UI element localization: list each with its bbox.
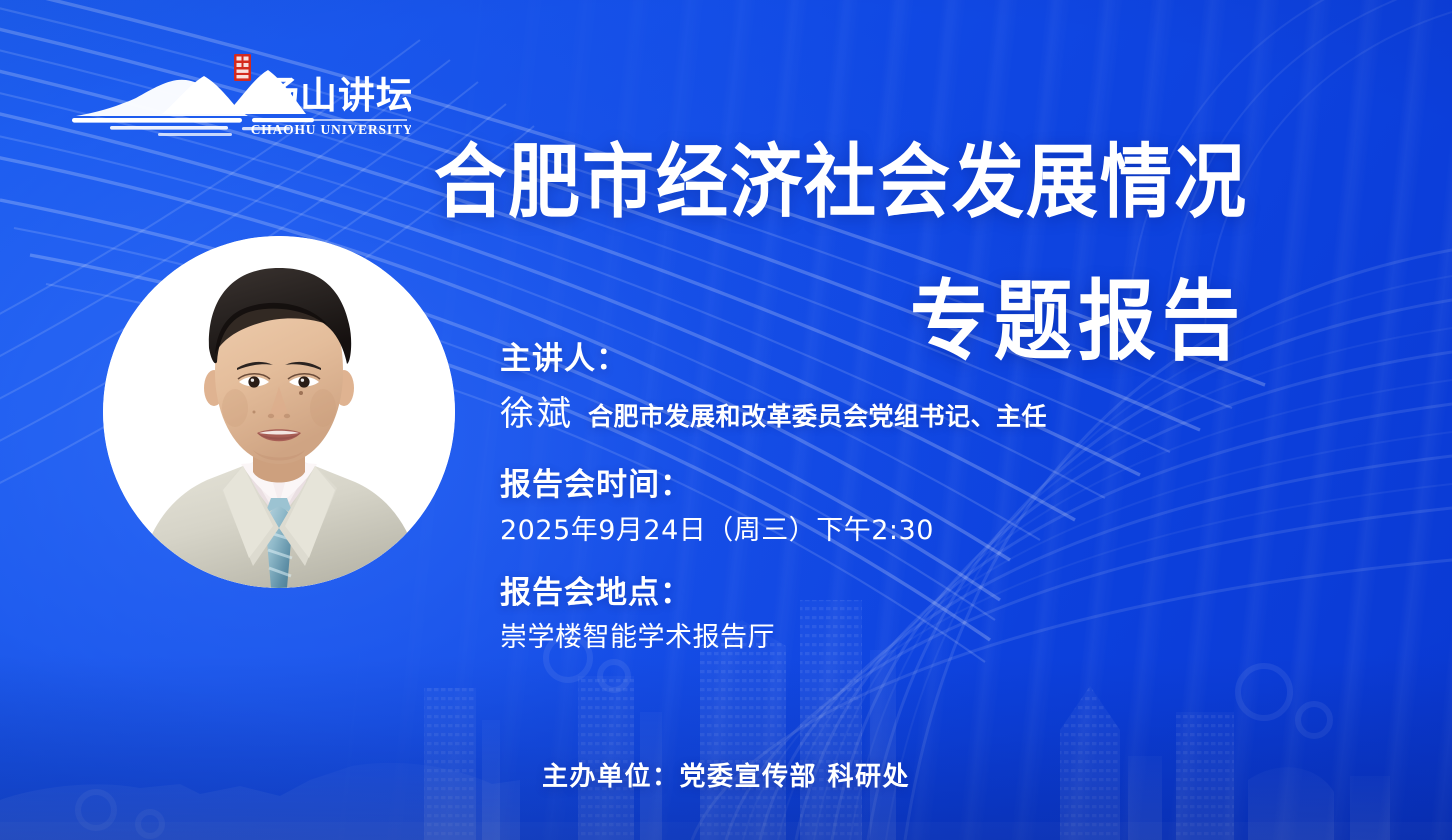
- event-details: 主讲人： 徐斌 合肥市发展和改革委员会党组书记、主任 报告会时间： 2025年9…: [500, 340, 1260, 655]
- logo-wordmark-cn: 汤山讲坛: [262, 74, 411, 117]
- brand-logo: 汤山讲坛 CHAOHU UNIVERSITY: [66, 52, 411, 147]
- time-label: 报告会时间：: [500, 466, 1260, 506]
- speaker-label: 主讲人：: [500, 340, 1260, 380]
- speaker-portrait: [103, 236, 455, 588]
- speaker-name: 徐斌: [500, 392, 574, 436]
- speaker-row: 徐斌 合肥市发展和改革委员会党组书记、主任: [500, 392, 1260, 436]
- poster-canvas: 汤山讲坛 CHAOHU UNIVERSITY: [0, 0, 1452, 840]
- spacer-after-time-label: [500, 506, 1260, 513]
- speaker-title: 合肥市发展和改革委员会党组书记、主任: [588, 401, 1047, 433]
- organiser-line: 主办单位：党委宣传部 科研处: [0, 756, 1452, 793]
- time-value: 2025年9月24日（周三）下午2:30: [500, 513, 1260, 548]
- spacer-after-speaker: [500, 436, 1260, 466]
- place-label: 报告会地点：: [500, 574, 1260, 614]
- spacer-after-place-label: [500, 613, 1260, 620]
- place-value: 崇学楼智能学术报告厅: [500, 620, 1260, 655]
- spacer-after-time: [500, 548, 1260, 574]
- title-line-1: 合肥市经济社会发展情况: [434, 116, 1248, 234]
- red-seal-icon: [234, 54, 251, 81]
- logo-wordmark-en: CHAOHU UNIVERSITY: [251, 122, 411, 137]
